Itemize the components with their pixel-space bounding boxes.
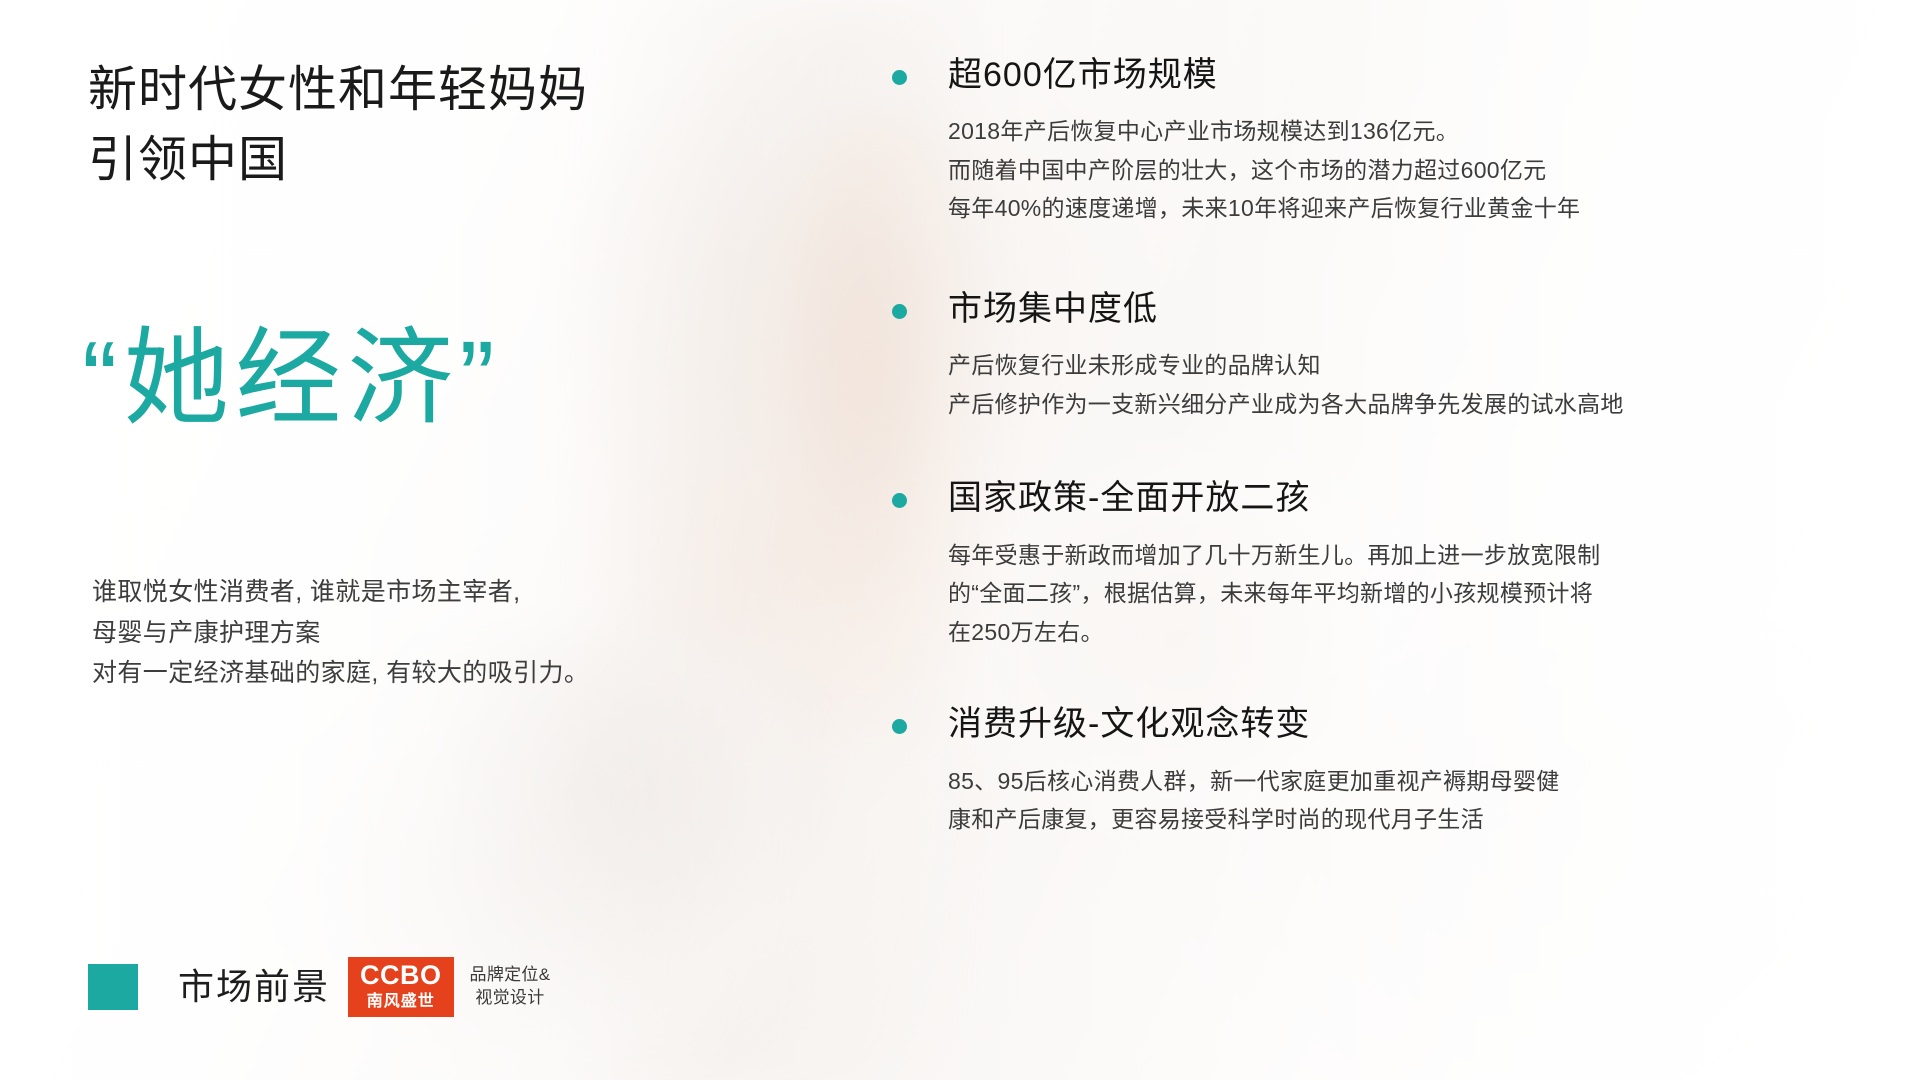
brand-logo-cn: 南风盛世 [367,992,435,1011]
list-item: 消费升级-文化观念转变 85、95后核心消费人群，新一代家庭更加重视产褥期母婴健… [892,703,1872,838]
feature-keyword: “她经济” [82,320,501,439]
footer-bar: 市场前景 CCBO 南风盛世 品牌定位& 视觉设计 [88,960,550,1014]
list-item: 市场集中度低 产后恢复行业未形成专业的品牌认知 产后修护作为一支新兴细分产业成为… [892,288,1872,423]
list-item: 国家政策-全面开放二孩 每年受惠于新政而增加了几十万新生儿。再加上进一步放宽限制… [892,477,1872,651]
left-paragraph: 谁取悦女性消费者, 谁就是市场主宰者, 母婴与产康护理方案 对有一定经济基础的家… [92,572,732,694]
brand-logo: CCBO 南风盛世 [348,957,454,1017]
bullet-title: 超600亿市场规模 [948,54,1872,96]
bullet-title: 国家政策-全面开放二孩 [948,477,1872,519]
bullet-dot-icon [892,719,907,734]
bullet-dot-icon [892,304,907,319]
bullet-body: 每年受惠于新政而增加了几十万新生儿。再加上进一步放宽限制 的“全面二孩”，根据估… [948,536,1872,652]
section-label: 市场前景 [178,969,330,1005]
bullet-list: 超600亿市场规模 2018年产后恢复中心产业市场规模达到136亿元。 而随着中… [892,54,1872,839]
accent-swatch [88,964,138,1010]
bullet-dot-icon [892,493,907,508]
brand-logo-en: CCBO [360,962,442,990]
bullet-title: 市场集中度低 [948,288,1872,330]
bullet-dot-icon [892,70,907,85]
bullet-body: 85、95后核心消费人群，新一代家庭更加重视产褥期母婴健 康和产后康复，更容易接… [948,762,1872,839]
slide-headline: 新时代女性和年轻妈妈 引领中国 [88,56,728,195]
left-column: 新时代女性和年轻妈妈 引领中国 “她经济” 谁取悦女性消费者, 谁就是市场主宰者… [88,0,728,1080]
bullet-body: 2018年产后恢复中心产业市场规模达到136亿元。 而随着中国中产阶层的壮大，这… [948,112,1872,228]
presentation-slide: 新时代女性和年轻妈妈 引领中国 “她经济” 谁取悦女性消费者, 谁就是市场主宰者… [0,0,1920,1080]
list-item: 超600亿市场规模 2018年产后恢复中心产业市场规模达到136亿元。 而随着中… [892,54,1872,228]
bullet-title: 消费升级-文化观念转变 [948,703,1872,745]
bullet-body: 产后恢复行业未形成专业的品牌认知 产后修护作为一支新兴细分产业成为各大品牌争先发… [948,346,1872,423]
brand-tagline: 品牌定位& 视觉设计 [470,964,551,1010]
